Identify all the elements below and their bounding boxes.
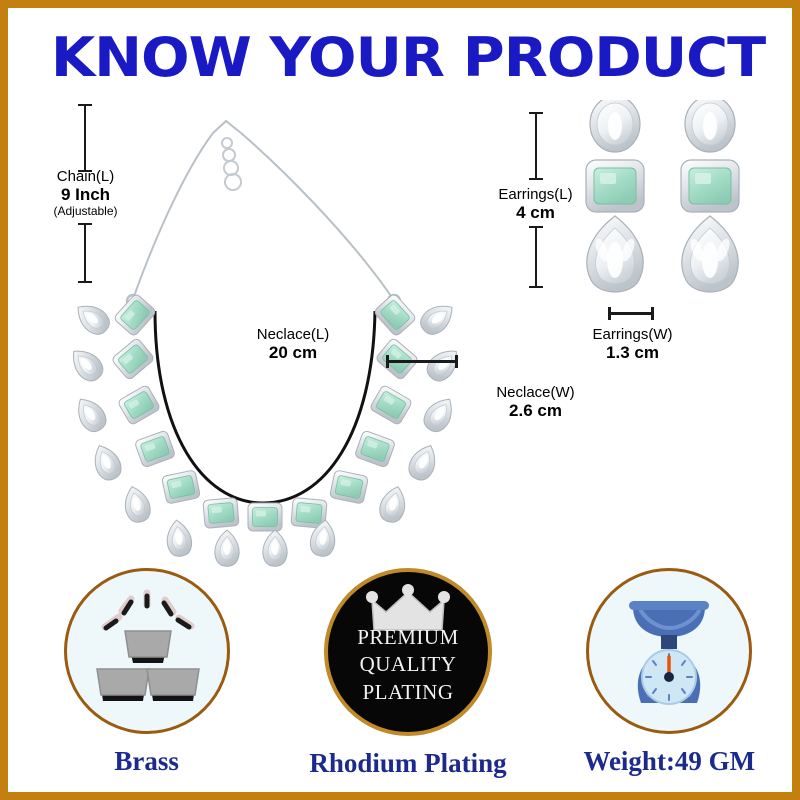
earrings-length-value: 4 cm [473,203,598,223]
badge-material-label: Brass [32,746,262,777]
chain-length-rule-top [84,104,86,172]
feature-badges: Brass PREMIUM QUALITY PLATING Rhodium Pl… [16,568,800,779]
earrings-length-rule-top [535,112,537,180]
earrings-length-label: Earrings(L) 4 cm [473,186,598,223]
chain-length-rule-bottom [84,223,86,283]
necklace-length-value: 20 cm [198,343,388,363]
badge-plating: PREMIUM QUALITY PLATING Rhodium Plating [293,568,523,779]
necklace-width-caption: Neclace(W) [463,384,608,401]
weighing-scale-icon [589,571,749,731]
necklace-width-label: Neclace(W) 2.6 cm [463,384,608,421]
earrings-width-caption: Earrings(W) [560,326,705,343]
chain-length-caption: Chain(L) [18,168,153,185]
badge-material-circle [64,568,230,734]
necklace-chain [133,121,393,299]
necklace-length-label: Neclace(L) 20 cm [198,326,388,363]
chain-length-note: (Adjustable) [18,205,153,219]
earrings-width-rule [608,312,654,315]
infographic-page: KNOW YOUR PRODUCT [0,0,800,800]
earrings-length-rule-bottom [535,226,537,288]
earring-right [681,100,739,292]
necklace-clasp [222,138,241,190]
plating-seal-line-1: PREMIUM [328,624,488,651]
page-title: KNOW YOUR PRODUCT [0,26,800,89]
chain-length-label: Chain(L) 9 Inch (Adjustable) [18,168,153,219]
badge-weight-label: Weight:49 GM [554,746,784,777]
necklace-width-rule [386,360,458,363]
plating-seal-text: PREMIUM QUALITY PLATING [328,624,488,706]
badge-plating-circle: PREMIUM QUALITY PLATING [324,568,492,736]
earrings-width-label: Earrings(W) 1.3 cm [560,326,705,363]
earrings-width-value: 1.3 cm [560,343,705,363]
chain-length-value: 9 Inch [18,185,153,205]
badge-material: Brass [32,568,262,777]
badge-weight: Weight:49 GM [554,568,784,777]
necklace-length-caption: Neclace(L) [198,326,388,343]
badge-weight-circle [586,568,752,734]
plating-seal-line-3: PLATING [328,679,488,706]
plating-seal-line-2: QUALITY [328,651,488,678]
metal-ingots-icon [67,571,227,731]
badge-plating-label: Rhodium Plating [293,748,523,779]
necklace-width-value: 2.6 cm [463,401,608,421]
earrings-length-caption: Earrings(L) [473,186,598,203]
